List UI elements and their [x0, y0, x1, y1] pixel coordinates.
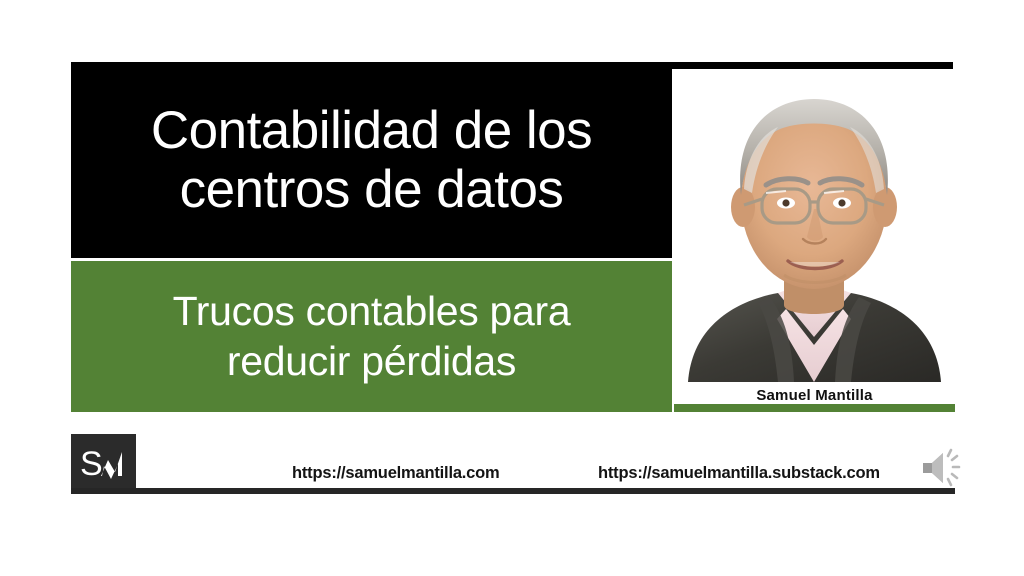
speaker-name: Samuel Mantilla — [756, 387, 872, 404]
portrait-photo — [674, 69, 955, 382]
footer-urls: https://samuelmantilla.com https://samue… — [160, 462, 955, 488]
speaker-volume-icon[interactable] — [919, 446, 963, 490]
title-line-1: Contabilidad de los — [151, 101, 592, 160]
speaker-volume-glyph — [919, 446, 963, 490]
photo-top-bar — [672, 62, 953, 69]
title-line-2: centros de datos — [180, 160, 564, 219]
title-block: Contabilidad de los centros de datos — [71, 62, 672, 258]
name-accent-bar — [674, 404, 955, 412]
presentation-slide: Contabilidad de los centros de datos Tru… — [0, 0, 1024, 576]
portrait-illustration — [674, 69, 955, 382]
footer-divider — [71, 488, 955, 494]
subtitle-block: Trucos contables para reducir pérdidas — [71, 261, 672, 412]
svg-text:S: S — [80, 445, 103, 483]
sm-monogram-icon: S — [71, 434, 136, 490]
sm-logo: S — [71, 434, 136, 490]
url-substack[interactable]: https://samuelmantilla.substack.com — [598, 464, 880, 483]
url-website[interactable]: https://samuelmantilla.com — [292, 464, 500, 483]
subtitle-line-1: Trucos contables para — [173, 287, 571, 336]
subtitle-line-2: reducir pérdidas — [227, 337, 516, 386]
